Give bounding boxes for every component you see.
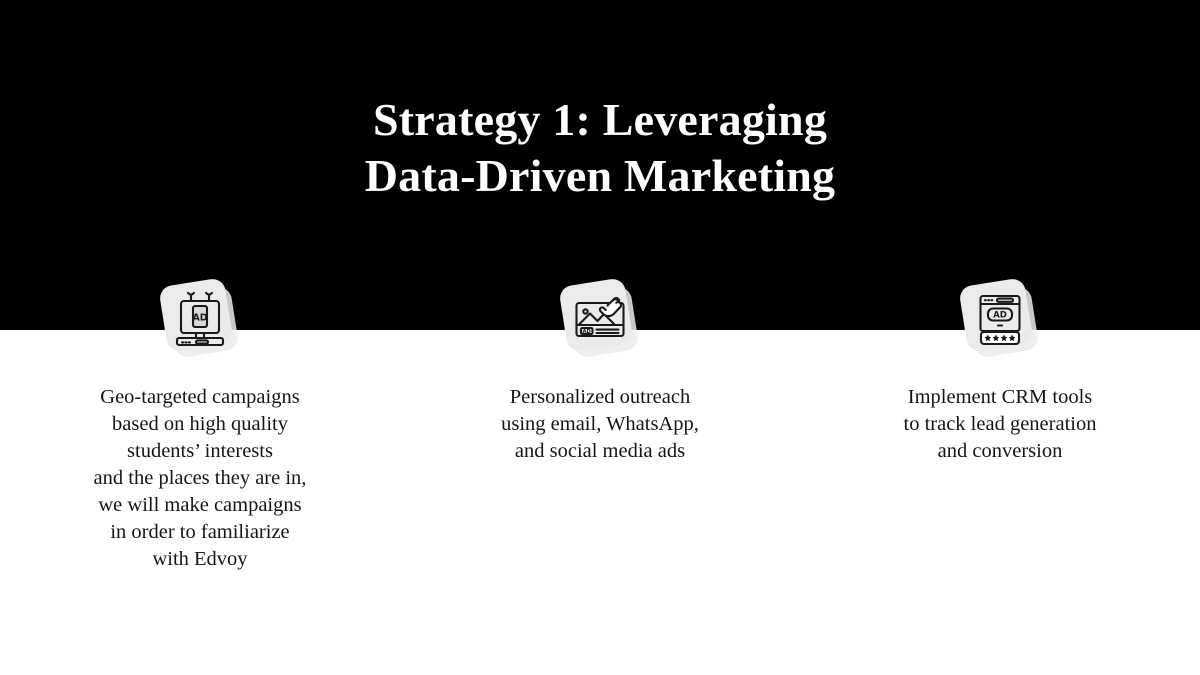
- column-3-text: Implement CRM tools to track lead genera…: [820, 384, 1180, 465]
- column-2: AD Personalized outreach using email, Wh: [400, 282, 800, 573]
- col2-line-1: Personalized outreach: [420, 384, 780, 411]
- col1-line-4: and the places they are in,: [20, 465, 380, 492]
- column-1-text: Geo-targeted campaigns based on high qua…: [20, 384, 380, 573]
- col1-line-7: with Edvoy: [20, 546, 380, 573]
- col3-line-3: and conversion: [820, 438, 1180, 465]
- page-title: Strategy 1: Leveraging Data-Driven Marke…: [0, 92, 1200, 204]
- column-3: AD Implement CRM tools to: [800, 282, 1200, 573]
- col3-line-2: to track lead generation: [820, 411, 1180, 438]
- ad-browser-rating-icon: AD: [963, 282, 1037, 356]
- ad-billboard-icon: AD: [163, 282, 237, 356]
- ad-billboard-glyph: AD: [170, 287, 230, 349]
- svg-text:AD: AD: [192, 313, 207, 324]
- col1-line-6: in order to familiarize: [20, 519, 380, 546]
- col3-line-1: Implement CRM tools: [820, 384, 1180, 411]
- svg-text:AD: AD: [583, 329, 592, 335]
- content-columns: AD Geo-targeted campaigns based on high …: [0, 282, 1200, 573]
- title-line-2: Data-Driven Marketing: [0, 148, 1200, 204]
- ad-browser-rating-glyph: AD: [970, 287, 1030, 349]
- col1-line-3: students’ interests: [20, 438, 380, 465]
- slide-root: Strategy 1: Leveraging Data-Driven Marke…: [0, 0, 1200, 675]
- col1-line-2: based on high quality: [20, 411, 380, 438]
- ad-banner-click-glyph: AD: [570, 287, 630, 349]
- column-2-text: Personalized outreach using email, Whats…: [420, 384, 780, 465]
- column-1: AD Geo-targeted campaigns based on high …: [0, 282, 400, 573]
- ad-banner-click-icon: AD: [563, 282, 637, 356]
- col2-line-3: and social media ads: [420, 438, 780, 465]
- col1-line-5: we will make campaigns: [20, 492, 380, 519]
- title-line-1: Strategy 1: Leveraging: [0, 92, 1200, 148]
- svg-text:AD: AD: [993, 310, 1007, 320]
- col1-line-1: Geo-targeted campaigns: [20, 384, 380, 411]
- col2-line-2: using email, WhatsApp,: [420, 411, 780, 438]
